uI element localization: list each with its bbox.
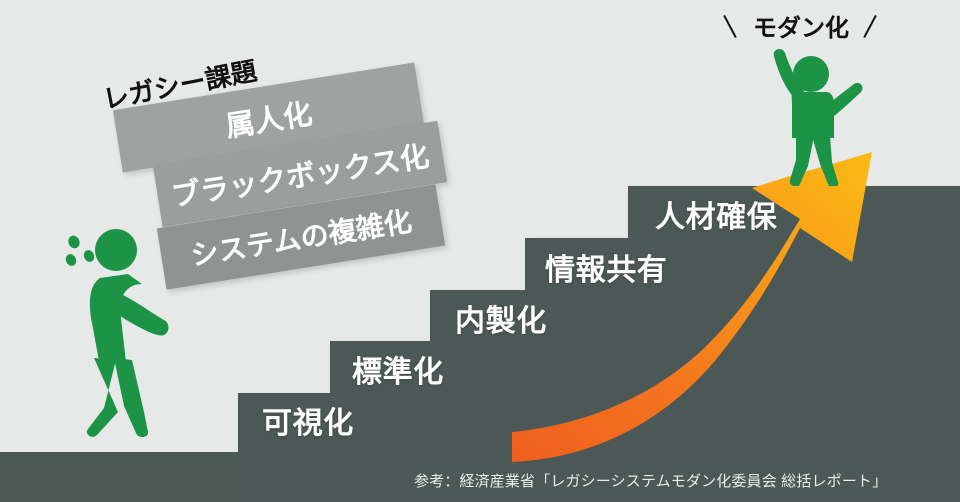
step-label-1: 可視化 xyxy=(262,398,354,442)
step-label-2: 標準化 xyxy=(352,347,444,391)
modern-heading-label: モダン化 xyxy=(753,8,849,43)
struggling-person-figure xyxy=(58,226,203,441)
person-torso xyxy=(792,92,834,138)
infographic-canvas: 可視化 標準化 内製化 情報共有 人材確保 属人化 ブラックボックス化 システム… xyxy=(0,0,960,502)
slash-right-icon xyxy=(858,14,884,38)
step-label-4: 情報共有 xyxy=(545,245,667,289)
modern-heading: モダン化 xyxy=(718,8,884,43)
step-label-5: 人材確保 xyxy=(655,192,777,236)
celebrating-person-figure xyxy=(756,42,866,186)
legacy-box-1-label: 属人化 xyxy=(222,90,315,145)
person-front-leg xyxy=(114,358,148,437)
sweat-drops-icon xyxy=(64,234,96,268)
source-caption: 参考：経済産業省「レガシーシステムモダン化委員会 総括レポート」 xyxy=(414,470,887,491)
person-right-leg xyxy=(812,136,838,186)
person-head xyxy=(95,229,137,271)
person-back-leg xyxy=(87,358,118,437)
slash-left-icon xyxy=(718,14,744,38)
step-label-3: 内製化 xyxy=(455,296,547,340)
person-left-leg xyxy=(790,136,814,186)
person-arm xyxy=(116,292,169,335)
